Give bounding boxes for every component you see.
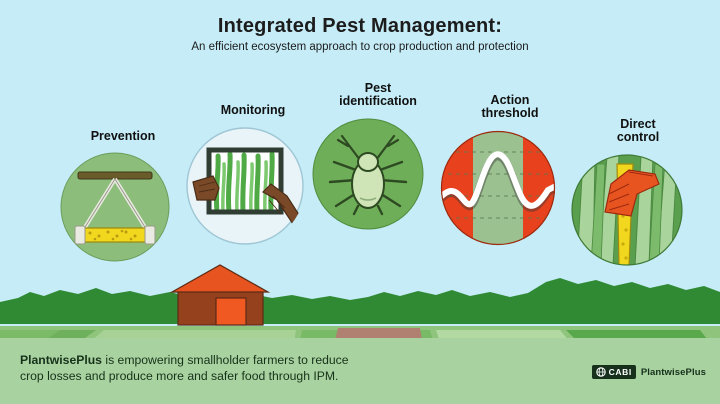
spray-application-icon bbox=[571, 154, 683, 266]
page-subtitle: An efficient ecosystem approach to crop … bbox=[0, 41, 720, 53]
cabi-logo: CABI bbox=[592, 365, 636, 379]
cabi-logo-text: CABI bbox=[609, 367, 632, 377]
threshold-graph-icon bbox=[440, 130, 556, 246]
step-direct-control-label-line2: control bbox=[558, 131, 718, 145]
farm-barn-icon bbox=[172, 265, 268, 325]
page-title: Integrated Pest Management: bbox=[0, 15, 720, 38]
globe-icon bbox=[596, 367, 606, 377]
ipm-infographic: Integrated Pest Management: An efficient… bbox=[0, 0, 720, 404]
footer-text: PlantwisePlus is empowering smallholder … bbox=[20, 352, 480, 384]
crop-quadrat-hands-icon bbox=[185, 126, 305, 246]
footer-line-2: crop losses and produce more and safer f… bbox=[20, 368, 480, 384]
footer-line-1-rest: is empowering smallholder farmers to red… bbox=[102, 353, 349, 367]
step-pest-identification-icon-circle bbox=[312, 118, 424, 230]
footer-line-1: PlantwisePlus is empowering smallholder … bbox=[20, 352, 480, 368]
plantwiseplus-logo-text: PlantwisePlus bbox=[641, 367, 706, 378]
sticky-trap-icon bbox=[60, 152, 170, 262]
step-action-threshold-icon-circle bbox=[440, 130, 556, 246]
aphid-insect-icon bbox=[312, 118, 424, 230]
step-monitoring-icon-circle bbox=[185, 126, 305, 246]
logo-group: CABI PlantwisePlus bbox=[592, 365, 706, 379]
footer-brand: PlantwisePlus bbox=[20, 353, 102, 367]
step-prevention-icon-circle bbox=[60, 152, 170, 262]
hedgerow bbox=[0, 278, 720, 324]
step-direct-control-icon-circle bbox=[571, 154, 683, 266]
step-prevention-label: Prevention bbox=[43, 130, 203, 144]
